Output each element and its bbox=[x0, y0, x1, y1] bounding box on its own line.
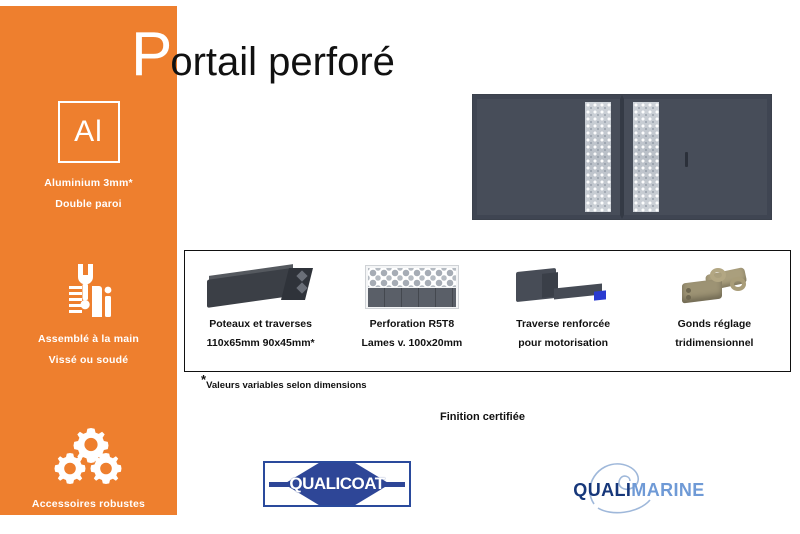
feature-label: Poteaux et traverses bbox=[209, 315, 312, 334]
feature-gonds: Gonds réglage tridimensionnel bbox=[639, 251, 790, 371]
feature-sublabel: pour motorisation bbox=[518, 334, 608, 353]
wrench-assembly-icon bbox=[0, 259, 177, 325]
feature-sublabel: 110x65mm 90x45mm* bbox=[207, 334, 315, 353]
perforated-panel bbox=[585, 102, 611, 212]
sidebar-item-aluminium: Al Aluminium 3mm* Double paroi bbox=[0, 101, 177, 215]
sidebar-item-label: Aluminium 3mm* bbox=[0, 173, 177, 194]
al-symbol-label: Al bbox=[74, 117, 103, 147]
page-title-rest: ortail perforé bbox=[170, 40, 395, 84]
gond-hinge-icon bbox=[639, 259, 790, 315]
feature-poteaux: Poteaux et traverses 110x65mm 90x45mm* bbox=[185, 251, 336, 371]
gate-illustration bbox=[466, 88, 778, 226]
qualimarine-text-a: QUALI bbox=[573, 480, 631, 500]
feature-sublabel: Lames v. 100x20mm bbox=[361, 334, 462, 353]
footnote: *Valeurs variables selon dimensions bbox=[201, 380, 367, 391]
sidebar-item-label: Double paroi bbox=[0, 194, 177, 215]
feature-label: Gonds réglage bbox=[678, 315, 752, 334]
features-panel: Poteaux et traverses 110x65mm 90x45mm* P… bbox=[184, 250, 791, 372]
feature-motorisation: Traverse renforcée pour motorisation bbox=[488, 251, 639, 371]
feature-label: Traverse renforcée bbox=[516, 315, 610, 334]
gate-leaf-left bbox=[473, 95, 622, 219]
page-title: Portail perforé bbox=[131, 24, 395, 86]
qualimarine-text-b: MARINE bbox=[631, 480, 704, 500]
product-datasheet-page: Al Aluminium 3mm* Double paroi bbox=[0, 0, 800, 534]
page-title-initial: P bbox=[131, 20, 172, 89]
motorisation-traverse-icon bbox=[488, 259, 639, 315]
perforation-sample-icon bbox=[336, 259, 487, 315]
perforated-panel bbox=[633, 102, 659, 212]
sidebar-item-label: Vissé ou soudé bbox=[0, 350, 177, 371]
qualimarine-logo-text: QUALIMARINE bbox=[556, 480, 722, 501]
sidebar-item-label: Assemblé à la main bbox=[0, 329, 177, 350]
sidebar-item-accessoires: Accessoires robustes bbox=[0, 424, 177, 515]
feature-perforation: Perforation R5T8 Lames v. 100x20mm bbox=[336, 251, 487, 371]
footnote-text: Valeurs variables selon dimensions bbox=[206, 380, 367, 391]
poteau-profile-icon bbox=[185, 259, 336, 315]
gears-icon bbox=[0, 424, 177, 490]
aluminium-al-square-icon: Al bbox=[58, 101, 120, 163]
certification-heading: Finition certifiée bbox=[440, 411, 525, 423]
feature-sublabel: tridimensionnel bbox=[675, 334, 753, 353]
qualicoat-logo-text: QUALICOAT bbox=[265, 474, 409, 494]
feature-label: Perforation R5T8 bbox=[370, 315, 455, 334]
gate-body bbox=[472, 94, 772, 220]
gate-handle bbox=[685, 152, 688, 167]
gate-leaf-right bbox=[622, 95, 771, 219]
qualimarine-logo: QUALIMARINE bbox=[556, 464, 722, 512]
sidebar-item-assemblage: Assemblé à la main Vissé ou soudé bbox=[0, 259, 177, 371]
sidebar-item-label: Accessoires robustes bbox=[0, 494, 177, 515]
qualicoat-logo: QUALICOAT bbox=[263, 461, 411, 507]
